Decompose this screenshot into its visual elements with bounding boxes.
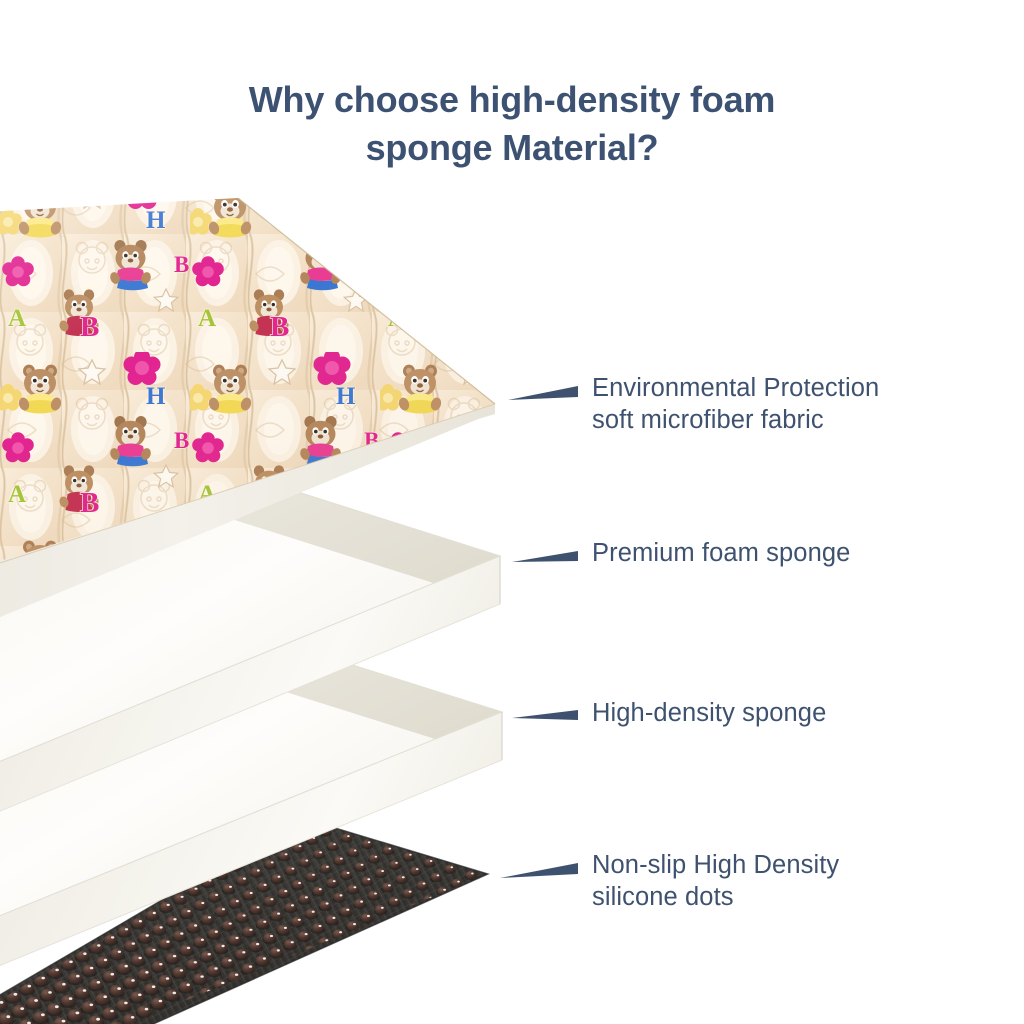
infographic-canvas: Why choose high-density foam sponge Mate… bbox=[0, 0, 1024, 1024]
callout-label-premium-foam: Premium foam sponge bbox=[592, 537, 850, 569]
pointer-line-1 bbox=[512, 551, 578, 562]
callout-label-high-density-sponge: High-density sponge bbox=[592, 697, 826, 729]
pointer-line-3 bbox=[500, 863, 578, 878]
callout-pointers bbox=[500, 386, 578, 878]
pointer-line-2 bbox=[512, 710, 578, 720]
callout-label-microfiber-fabric: Environmental Protection soft microfiber… bbox=[592, 372, 879, 436]
layer-stack-illustration: B H A B bbox=[0, 0, 1024, 1024]
pointer-line-0 bbox=[508, 386, 578, 400]
callout-label-silicone-dots: Non-slip High Density silicone dots bbox=[592, 849, 839, 913]
